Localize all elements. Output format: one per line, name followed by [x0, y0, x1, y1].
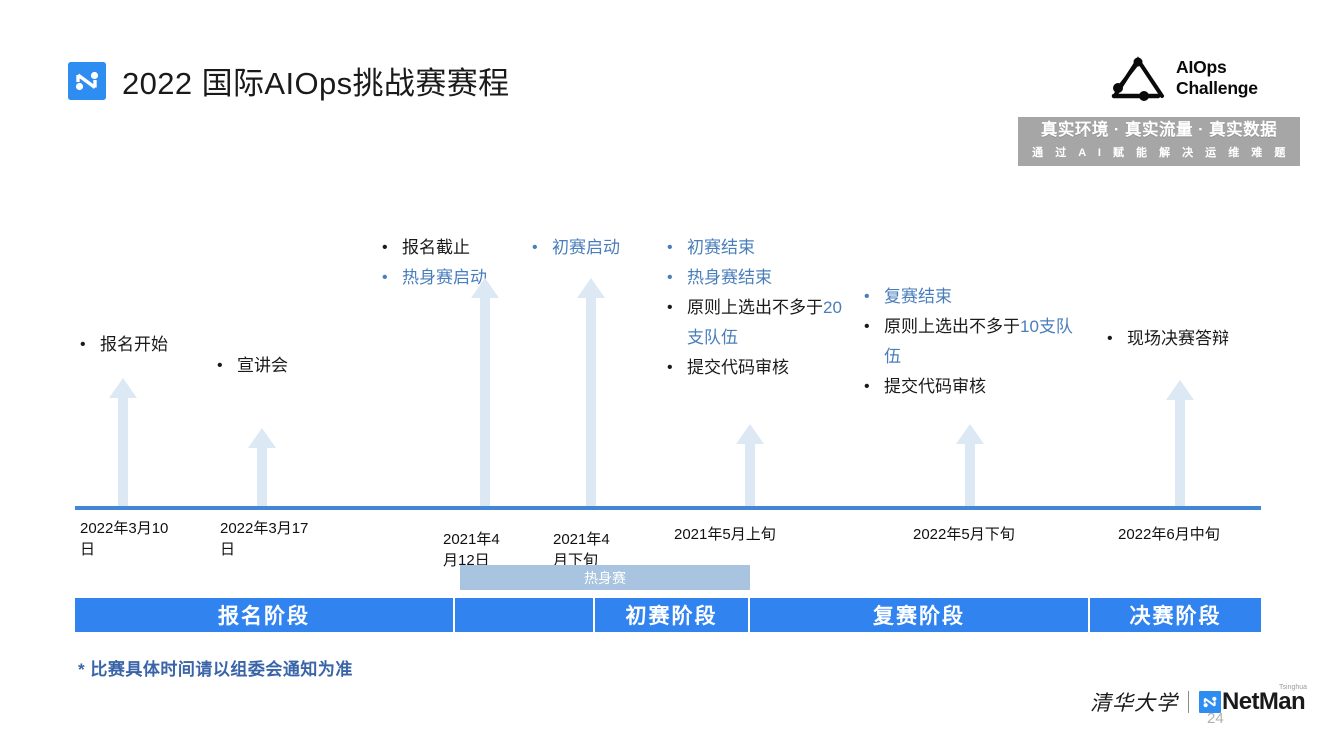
milestone-note-registration-open: 报名开始 — [78, 330, 168, 360]
list-item: 报名截止 — [380, 233, 487, 263]
phase-segment-semifinal[interactable]: 复赛阶段 — [750, 598, 1090, 632]
netman-wordmark-text: NetMan — [1222, 688, 1305, 715]
date-label-semifinal-end: 2022年5月下旬 — [913, 524, 1053, 545]
aiops-logo-line1: AIOps — [1176, 57, 1258, 78]
milestone-note-info-session: 宣讲会 — [215, 351, 288, 381]
timeline-arrow-prelim-start — [576, 278, 606, 508]
netman-n-logo-icon — [68, 62, 106, 100]
phase-segment-final[interactable]: 决赛阶段 — [1090, 598, 1261, 632]
timeline-arrow-prelim-end — [735, 424, 765, 508]
timeline-arrow-final-defense — [1165, 380, 1195, 508]
list-item: 现场决赛答辩 — [1105, 324, 1229, 354]
list-item: 初赛结束 — [665, 233, 855, 263]
tagline-primary: 真实环境 · 真实流量 · 真实数据 — [1018, 117, 1300, 143]
netman-wordmark: NetMan Tsinghua — [1222, 688, 1305, 716]
footer-divider — [1188, 691, 1189, 713]
phase-segment-registration[interactable]: 报名阶段 — [75, 598, 455, 632]
milestone-note-semifinal-end: 复赛结束 原则上选出不多于10支队伍 提交代码审核 — [862, 282, 1077, 402]
tagline-banner: 真实环境 · 真实流量 · 真实数据 通 过 A I 赋 能 解 决 运 维 难… — [1018, 117, 1300, 166]
milestone-note-prelim-start: 初赛启动 — [530, 233, 620, 263]
date-label-prelim-end: 2021年5月上旬 — [674, 524, 814, 545]
timeline-arrow-registration-close — [470, 278, 500, 508]
timeline-axis — [75, 506, 1261, 510]
list-item: 报名开始 — [78, 330, 168, 360]
timeline-arrow-semifinal-end — [955, 424, 985, 508]
list-item: 初赛启动 — [530, 233, 620, 263]
milestone-note-final-defense: 现场决赛答辩 — [1105, 324, 1229, 354]
list-item: 原则上选出不多于20支队伍 — [665, 293, 855, 353]
milestone-note-prelim-end: 初赛结束 热身赛结束 原则上选出不多于20支队伍 提交代码审核 — [665, 233, 855, 383]
list-item: 热身赛结束 — [665, 263, 855, 293]
phase-segment-preliminary[interactable]: 初赛阶段 — [595, 598, 750, 632]
phase-bar: 报名阶段 初赛阶段 复赛阶段 决赛阶段 — [75, 598, 1261, 632]
timeline-arrow-info-session — [247, 428, 277, 508]
date-label-info-session: 2022年3月17日 — [220, 518, 320, 560]
footer-logos: 清华大学 NetMan Tsinghua — [1090, 686, 1305, 718]
date-label-final-defense: 2022年6月中旬 — [1118, 524, 1258, 545]
slide-canvas: 2022 国际AIOps挑战赛赛程 AIOps Challenge 真实环境 ·… — [0, 0, 1333, 750]
list-item: 原则上选出不多于10支队伍 — [862, 312, 1077, 372]
aiops-logo-line2: Challenge — [1176, 78, 1258, 99]
tsinghua-university-logo: 清华大学 — [1090, 687, 1178, 717]
list-item: 提交代码审核 — [862, 372, 1077, 402]
page-number: 24 — [1207, 710, 1224, 727]
list-item: 复赛结束 — [862, 282, 1077, 312]
phase-label: 复赛阶段 — [873, 600, 965, 630]
phase-label: 决赛阶段 — [1130, 600, 1222, 630]
phase-label: 初赛阶段 — [626, 600, 718, 630]
timeline-arrow-registration-open — [108, 378, 138, 508]
aiops-logo-text: AIOps Challenge — [1176, 57, 1258, 99]
aiops-challenge-logo: AIOps Challenge — [1108, 52, 1298, 110]
netman-superscript: Tsinghua — [1279, 684, 1307, 691]
list-item: 宣讲会 — [215, 351, 288, 381]
page-title: 2022 国际AIOps挑战赛赛程 — [122, 58, 510, 103]
footnote: * 比赛具体时间请以组委会通知为准 — [78, 655, 353, 680]
warmup-phase-label: 热身赛 — [584, 568, 626, 588]
tagline-secondary: 通 过 A I 赋 能 解 决 运 维 难 题 — [1018, 143, 1300, 163]
warmup-phase-band: 热身赛 — [460, 565, 750, 590]
date-label-registration-open: 2022年3月10日 — [80, 518, 180, 560]
list-item: 提交代码审核 — [665, 353, 855, 383]
phase-segment-gap[interactable] — [455, 598, 595, 632]
phase-label: 报名阶段 — [218, 600, 310, 630]
aiops-challenge-icon — [1108, 54, 1170, 106]
